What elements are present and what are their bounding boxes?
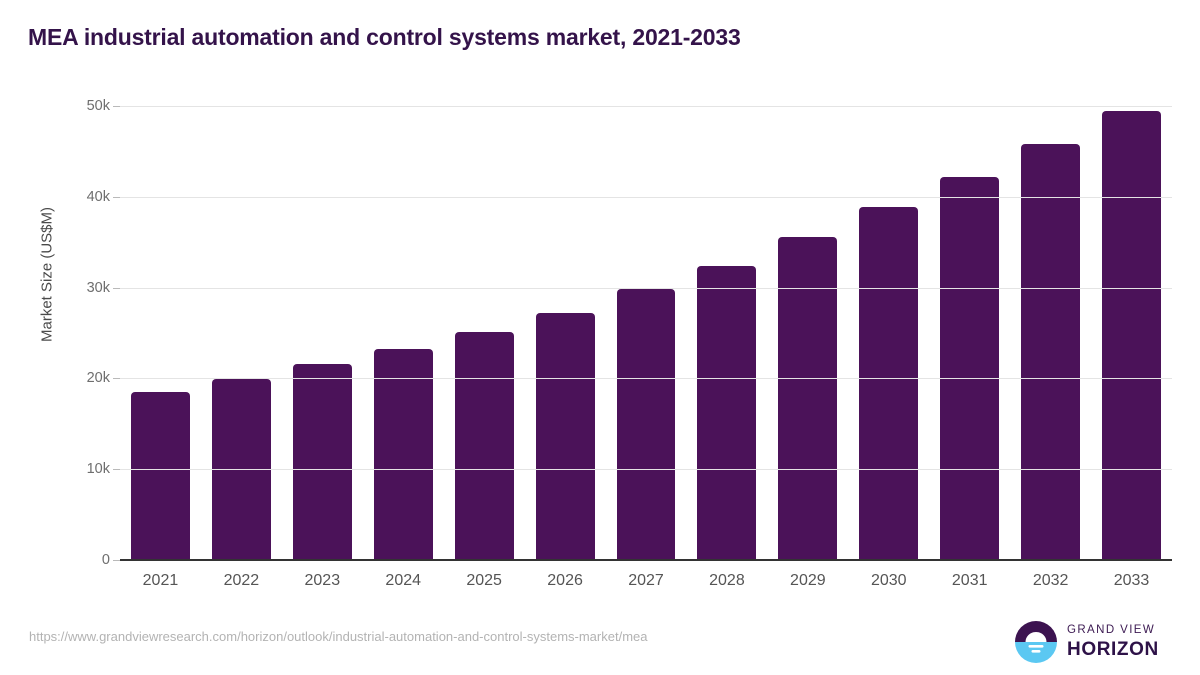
- x-tick-label: 2033: [1114, 572, 1150, 590]
- y-tick-label: 10k: [40, 461, 110, 477]
- x-tick-label: 2031: [952, 572, 988, 590]
- y-tick-label: 30k: [40, 280, 110, 296]
- plot-area: [120, 106, 1172, 560]
- y-tick-label: 0: [40, 552, 110, 568]
- y-tick-mark: [113, 288, 120, 289]
- bar-2026[interactable]: [536, 313, 595, 560]
- x-tick-label: 2021: [143, 572, 179, 590]
- gridline: [120, 469, 1172, 470]
- bar-2033[interactable]: [1102, 111, 1161, 560]
- bar-2032[interactable]: [1021, 144, 1080, 560]
- x-tick-label: 2029: [790, 572, 826, 590]
- y-tick-mark: [113, 560, 120, 561]
- bar-2029[interactable]: [778, 237, 837, 560]
- bar-2027[interactable]: [617, 289, 676, 560]
- x-tick-label: 2024: [385, 572, 421, 590]
- gridline: [120, 106, 1172, 107]
- gridline: [120, 378, 1172, 379]
- source-url[interactable]: https://www.grandviewresearch.com/horizo…: [29, 629, 647, 644]
- chart-container: Market Size (US$M) 010k20k30k40k50k 2021…: [0, 0, 1200, 675]
- logo-line-1: GRAND VIEW: [1067, 625, 1159, 637]
- bar-2031[interactable]: [940, 177, 999, 560]
- chart-page: MEA industrial automation and control sy…: [0, 0, 1200, 675]
- y-tick-label: 40k: [40, 189, 110, 205]
- gridline: [120, 197, 1172, 198]
- logo-line-2: HORIZON: [1067, 640, 1159, 659]
- y-tick-mark: [113, 378, 120, 379]
- x-tick-label: 2022: [224, 572, 260, 590]
- bar-2028[interactable]: [697, 266, 756, 560]
- bar-2023[interactable]: [293, 364, 352, 560]
- x-tick-label: 2023: [305, 572, 341, 590]
- bar-2021[interactable]: [131, 392, 190, 560]
- bars-layer: [120, 106, 1172, 560]
- x-tick-label: 2030: [871, 572, 907, 590]
- x-axis-line: [120, 559, 1172, 561]
- x-tick-label: 2028: [709, 572, 745, 590]
- y-tick-mark: [113, 469, 120, 470]
- x-tick-label: 2026: [547, 572, 583, 590]
- bar-2030[interactable]: [859, 207, 918, 560]
- brand-logo: GRAND VIEW HORIZON: [1014, 619, 1159, 665]
- x-tick-label: 2027: [628, 572, 664, 590]
- x-tick-label: 2025: [466, 572, 502, 590]
- x-tick-label: 2032: [1033, 572, 1069, 590]
- gridline: [120, 288, 1172, 289]
- logo-wordmark: GRAND VIEW HORIZON: [1067, 625, 1159, 659]
- bar-2025[interactable]: [455, 332, 514, 560]
- y-tick-mark: [113, 197, 120, 198]
- y-tick-label: 20k: [40, 370, 110, 386]
- bar-2024[interactable]: [374, 349, 433, 560]
- y-tick-label: 50k: [40, 98, 110, 114]
- y-tick-mark: [113, 106, 120, 107]
- grand-view-horizon-logo-icon: [1014, 620, 1058, 664]
